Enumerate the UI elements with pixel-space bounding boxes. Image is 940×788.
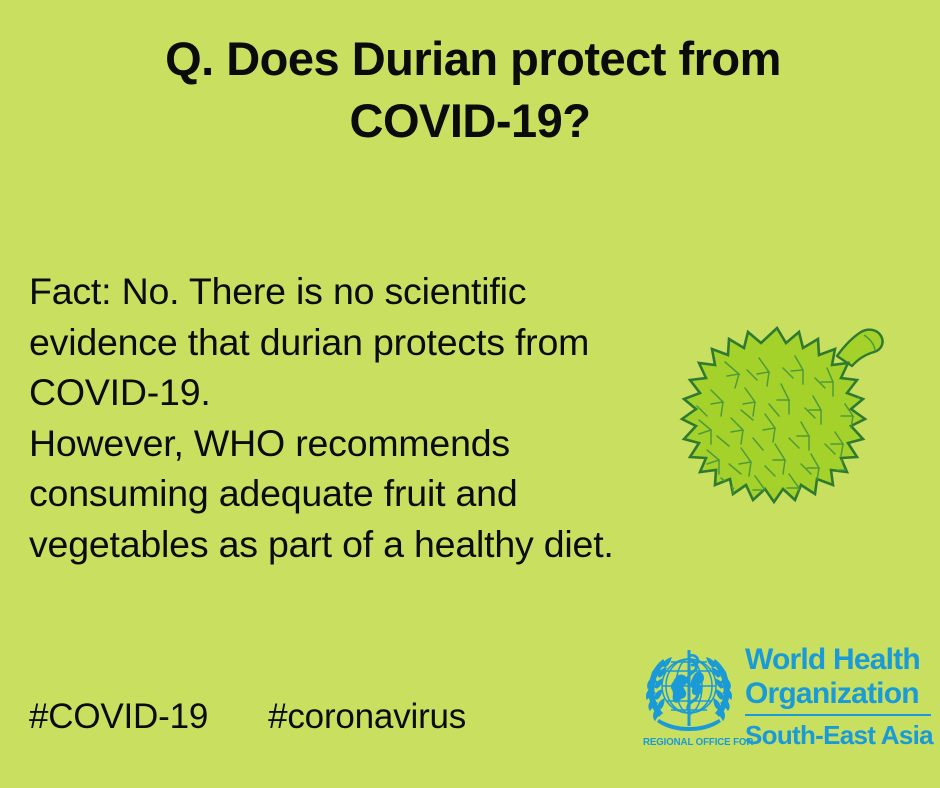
hashtag-covid19: #COVID-19 [29, 697, 208, 736]
body-text: Fact: No. There is no scientific evidenc… [29, 266, 629, 569]
body-paragraph-1: Fact: No. There is no scientific evidenc… [29, 266, 629, 418]
page-title: Q. Does Durian protect from COVID-19? [0, 28, 940, 152]
who-logo: REGIONAL OFFICE FOR World Health Organiz… [641, 646, 929, 758]
who-wordmark: World Health Organization South-East Asi… [745, 643, 931, 750]
durian-fruit-illustration [655, 312, 900, 557]
who-divider-rule [745, 714, 931, 716]
headline-line-1: Q. Does Durian protect from [0, 28, 940, 90]
hashtag-coronavirus: #coronavirus [268, 697, 466, 736]
who-region-name: South-East Asia [745, 720, 931, 750]
body-paragraph-2: However, WHO recommends consuming adequa… [29, 418, 629, 570]
headline-line-2: COVID-19? [0, 90, 940, 152]
hashtag-row: #COVID-19#coronavirus [29, 697, 466, 737]
who-wordmark-line-2: Organization [745, 677, 931, 711]
who-emblem-icon [641, 646, 737, 734]
who-wordmark-line-1: World Health [745, 643, 931, 677]
infographic-card: Q. Does Durian protect from COVID-19? Fa… [0, 0, 940, 788]
who-regional-office-label: REGIONAL OFFICE FOR [643, 736, 739, 748]
